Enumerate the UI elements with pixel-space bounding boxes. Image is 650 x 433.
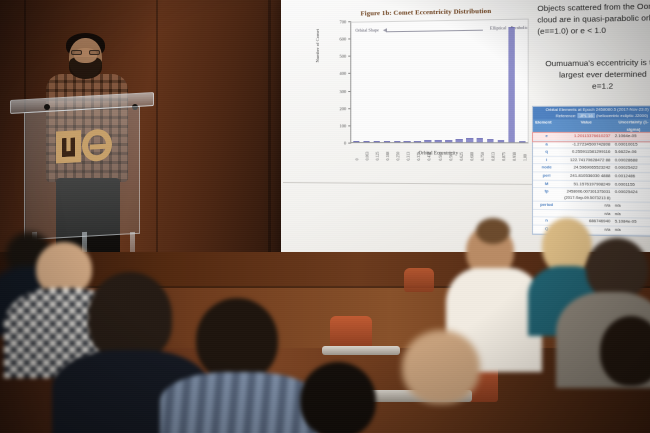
audience bbox=[0, 0, 650, 433]
lecture-hall-photo: Figure 1b: Comet Eccentricity Distributi… bbox=[0, 0, 650, 433]
